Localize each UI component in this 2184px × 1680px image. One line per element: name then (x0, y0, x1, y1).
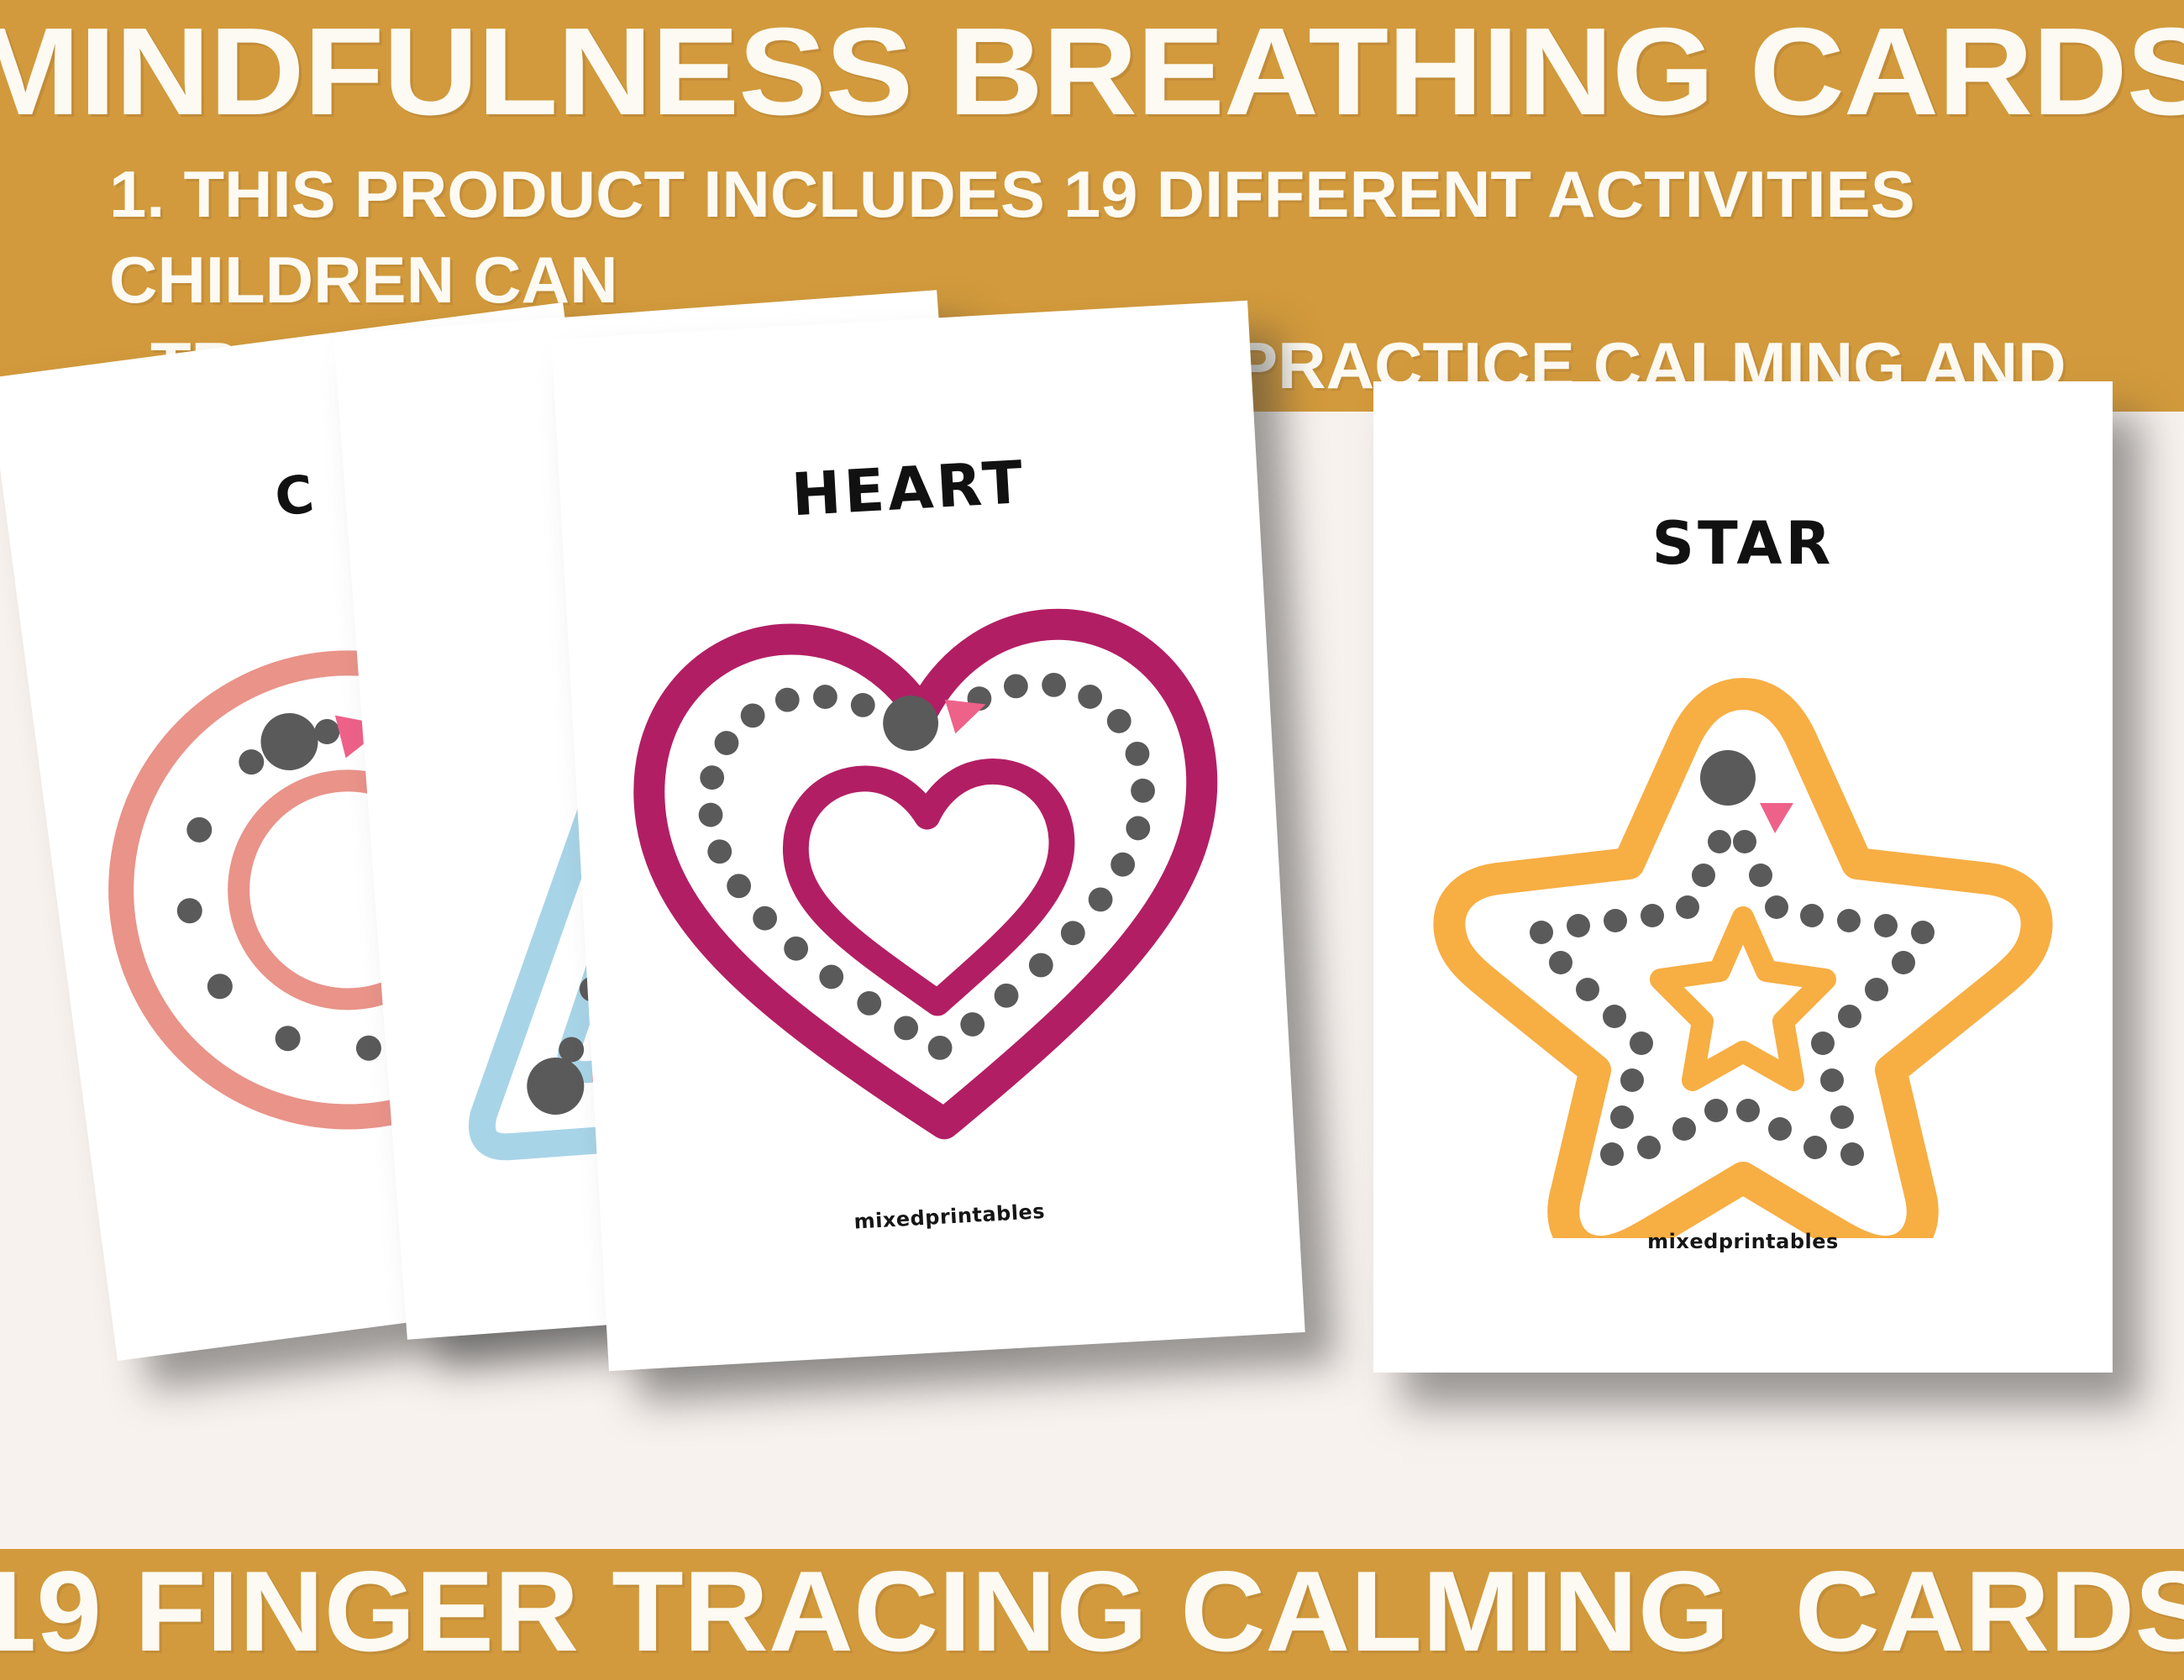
subtitle-line-1: 1. THIS PRODUCT INCLUDES 19 DIFFERENT AC… (109, 151, 2131, 323)
footer-text: 19 FINGER TRACING CALMING CARDS (0, 1549, 2184, 1678)
cards-stage: C (0, 412, 2184, 1549)
start-dot-star (1700, 750, 1756, 806)
breathing-card-star[interactable]: STAR (1373, 381, 2113, 1373)
star-trace-art (1373, 650, 2113, 1238)
start-dot-circle (257, 710, 321, 774)
card-watermark-heart: mixedprintables (601, 1185, 1298, 1247)
card-watermark-star: mixedprintables (1373, 1230, 2113, 1253)
page-title: MINDFULNESS BREATHING CARDS (0, 5, 2184, 139)
card-title-heart: HEART (559, 435, 1258, 543)
footer-banner: 19 FINGER TRACING CALMING CARDS (0, 1549, 2184, 1680)
breathing-card-heart[interactable]: HEART (551, 301, 1305, 1371)
direction-arrow-star (1760, 803, 1793, 833)
heart-trace-art (565, 552, 1295, 1194)
card-title-star: STAR (1373, 509, 2113, 578)
